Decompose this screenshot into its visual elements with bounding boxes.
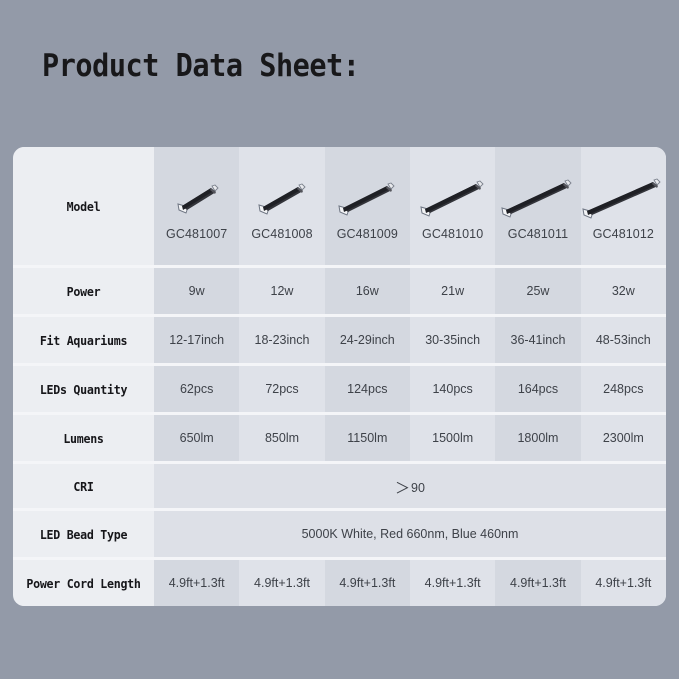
- table-row-lumens: Lumens 650lm 850lm 1150lm 1500lm 1800lm …: [13, 414, 666, 463]
- row-label-led-bead-type: LED Bead Type: [18, 510, 149, 559]
- power-cell-3: 16w: [325, 267, 410, 316]
- model-code: GC481010: [422, 227, 483, 241]
- row-label-power: Power: [18, 267, 149, 316]
- led-bead-type-value-cell: 5000K White, Red 660nm, Blue 460nm: [154, 510, 666, 559]
- page-title: Product Data Sheet:: [42, 48, 360, 84]
- leds-quantity-cell-2: 72pcs: [239, 365, 324, 414]
- fit-aquariums-cell-2: 18-23inch: [239, 316, 324, 365]
- leds-quantity-cell-5: 164pcs: [495, 365, 580, 414]
- fit-aquariums-cell-5: 36-41inch: [495, 316, 580, 365]
- table-row-led-bead-type: LED Bead Type 5000K White, Red 660nm, Bl…: [13, 510, 666, 559]
- fit-aquariums-cell-1: 12-17inch: [154, 316, 239, 365]
- lumens-cell-1: 650lm: [154, 414, 239, 463]
- spec-table: Model: [13, 147, 666, 606]
- lumens-cell-2: 850lm: [239, 414, 324, 463]
- row-label-leds-quantity: LEDs Quantity: [18, 365, 149, 414]
- power-cell-1: 9w: [154, 267, 239, 316]
- table-row-fit-aquariums: Fit Aquariums 12-17inch 18-23inch 24-29i…: [13, 316, 666, 365]
- model-cell-3: GC481009: [325, 147, 410, 267]
- row-label-lumens: Lumens: [18, 414, 149, 463]
- lumens-cell-3: 1150lm: [325, 414, 410, 463]
- led-bar-icon: [328, 171, 406, 223]
- model-code: GC481007: [166, 227, 227, 241]
- row-label-model: Model: [18, 147, 149, 267]
- led-bar-icon: [575, 171, 666, 223]
- model-code: GC481009: [337, 227, 398, 241]
- product-data-sheet-page: Product Data Sheet: Model: [0, 0, 679, 679]
- cri-value-cell: ＞90: [154, 463, 666, 510]
- spec-table-container: Model: [13, 147, 666, 606]
- model-cell-1: GC481007: [154, 147, 239, 267]
- table-row-leds-quantity: LEDs Quantity 62pcs 72pcs 124pcs 140pcs …: [13, 365, 666, 414]
- fit-aquariums-cell-3: 24-29inch: [325, 316, 410, 365]
- greater-than-icon: ＞: [395, 480, 411, 497]
- fit-aquariums-cell-6: 48-53inch: [581, 316, 666, 365]
- lumens-cell-4: 1500lm: [410, 414, 495, 463]
- model-cell-2: GC481008: [239, 147, 324, 267]
- led-bar-icon: [247, 171, 317, 223]
- power-cord-length-cell-6: 4.9ft+1.3ft: [581, 559, 666, 607]
- power-cord-length-cell-5: 4.9ft+1.3ft: [495, 559, 580, 607]
- lumens-cell-5: 1800lm: [495, 414, 580, 463]
- model-code: GC481008: [251, 227, 312, 241]
- power-cell-2: 12w: [239, 267, 324, 316]
- row-label-power-cord-length: Power Cord Length: [18, 559, 149, 607]
- power-cell-6: 32w: [581, 267, 666, 316]
- model-cell-5: GC481011: [495, 147, 580, 267]
- model-code: GC481011: [508, 227, 568, 241]
- power-cell-5: 25w: [495, 267, 580, 316]
- model-cell-6: GC481012: [581, 147, 666, 267]
- fit-aquariums-cell-4: 30-35inch: [410, 316, 495, 365]
- leds-quantity-cell-6: 248pcs: [581, 365, 666, 414]
- power-cord-length-cell-4: 4.9ft+1.3ft: [410, 559, 495, 607]
- model-code: GC481012: [593, 227, 654, 241]
- power-cell-4: 21w: [410, 267, 495, 316]
- table-row-power-cord-length: Power Cord Length 4.9ft+1.3ft 4.9ft+1.3f…: [13, 559, 666, 607]
- leds-quantity-cell-1: 62pcs: [154, 365, 239, 414]
- row-label-cri: CRI: [18, 463, 149, 510]
- power-cord-length-cell-1: 4.9ft+1.3ft: [154, 559, 239, 607]
- leds-quantity-cell-4: 140pcs: [410, 365, 495, 414]
- leds-quantity-cell-3: 124pcs: [325, 365, 410, 414]
- lumens-cell-6: 2300lm: [581, 414, 666, 463]
- model-cell-4: GC481010: [410, 147, 495, 267]
- power-cord-length-cell-3: 4.9ft+1.3ft: [325, 559, 410, 607]
- led-bar-icon: [411, 171, 495, 223]
- table-row-cri: CRI ＞90: [13, 463, 666, 510]
- row-label-fit-aquariums: Fit Aquariums: [18, 316, 149, 365]
- led-bar-icon: [493, 171, 583, 223]
- led-bar-icon: [166, 171, 228, 223]
- table-row-model: Model: [13, 147, 666, 267]
- table-row-power: Power 9w 12w 16w 21w 25w 32w: [13, 267, 666, 316]
- power-cord-length-cell-2: 4.9ft+1.3ft: [239, 559, 324, 607]
- cri-value: 90: [411, 481, 425, 495]
